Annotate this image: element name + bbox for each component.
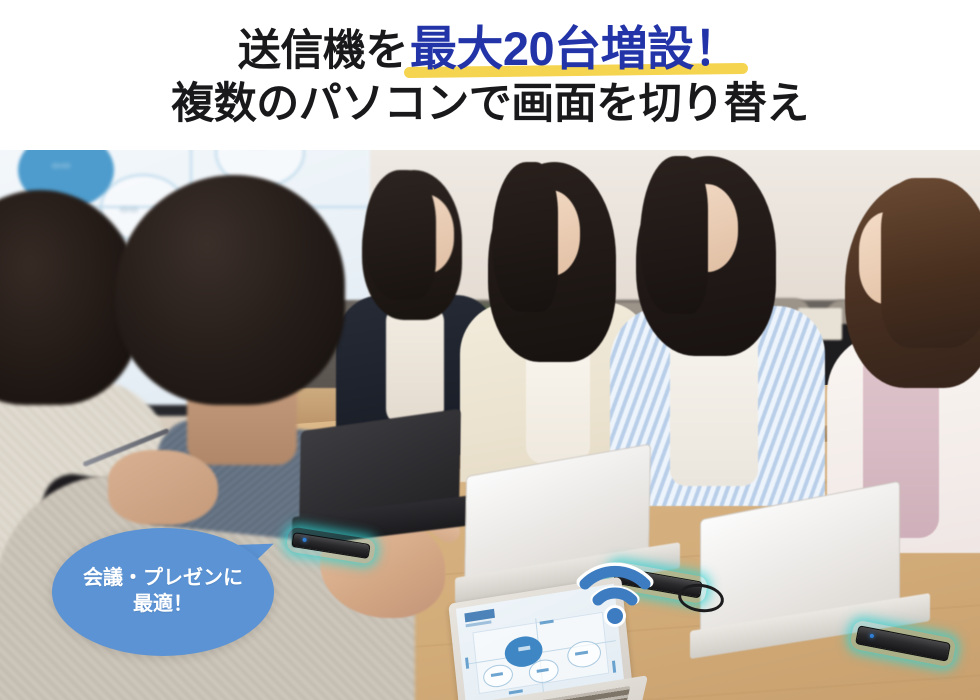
seated-woman-4: [845, 178, 980, 478]
diagram-label-bottom: [509, 689, 523, 694]
diagram-label-right: [612, 660, 616, 672]
diagram-label-left: [465, 657, 469, 668]
promo-banner: 送信機を最大20台増設！ 複数のパソコンで画面を切り替え ▭▭ ▭▭ ▭▭: [0, 0, 980, 700]
presentation-node-label: ▭▭: [52, 160, 71, 171]
callout-line-1: 会議・プレゼンに: [83, 566, 243, 592]
seated-woman-3: [630, 156, 800, 426]
headline-prefix: 送信機を: [238, 30, 408, 73]
headline-line-1: 送信機を最大20台増設！: [238, 25, 742, 73]
presentation-label-right: ▭▭: [248, 150, 267, 151]
wifi-icon: [572, 556, 658, 628]
hand-holding-pen: [108, 450, 218, 525]
headline-accent: 最大20台増設！: [408, 25, 742, 72]
callout-line-2: 最適！: [133, 592, 193, 618]
laptop-dark: [300, 420, 475, 540]
headline-accent-text: 最大20台増設！: [410, 22, 740, 75]
headline-block: 送信機を最大20台増設！ 複数のパソコンで画面を切り替え: [0, 0, 980, 150]
callout-bubble: 会議・プレゼンに 最適！: [52, 528, 274, 656]
headline-line-2: 複数のパソコンで画面を切り替え: [171, 83, 809, 126]
